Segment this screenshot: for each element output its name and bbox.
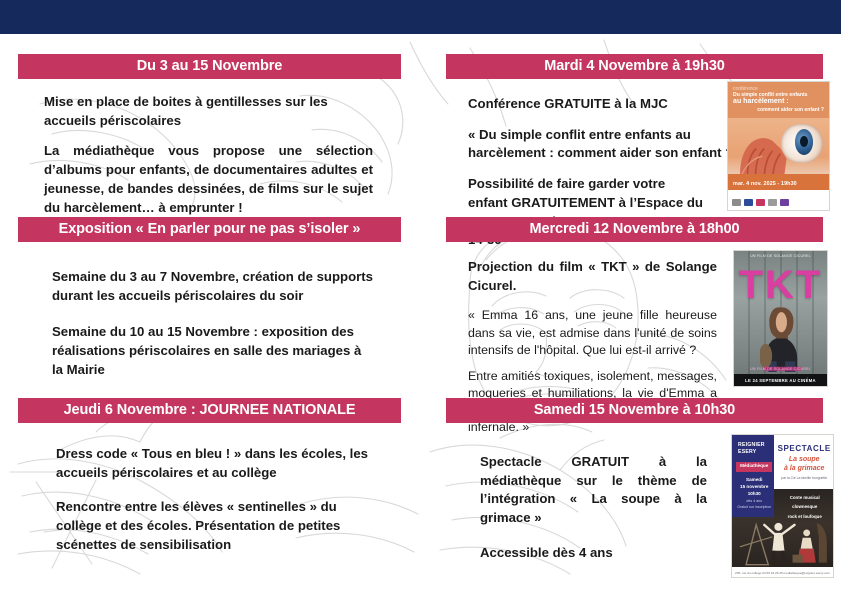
partner-logo-icon bbox=[780, 199, 789, 206]
paragraph: « Emma 16 ans, une jeune fille heureuse … bbox=[468, 307, 717, 358]
event-when: Samedi 15 novembre 10h30 bbox=[736, 476, 772, 497]
section-header: Du 3 au 15 Novembre bbox=[18, 54, 401, 79]
page-banner bbox=[0, 0, 841, 34]
poster-title: TKT bbox=[734, 265, 827, 305]
poster-film-tkt[interactable]: UN FILM DE SOLANGE CICUREL TKT UN FILM D… bbox=[733, 250, 828, 387]
paragraph: Projection du film « TKT » de Solange Ci… bbox=[468, 258, 717, 295]
poster-heading: SPECTACLE bbox=[777, 444, 831, 453]
poster-spectacle-soupe-a-la-grimace[interactable]: REIGNIER ESERY Médiathèque Samedi 15 nov… bbox=[731, 434, 834, 578]
paragraph: La médiathèque vous propose une sélectio… bbox=[44, 142, 373, 217]
paragraph: Rencontre entre les élèves « sentinelles… bbox=[56, 498, 373, 554]
performers-illustration-icon bbox=[738, 507, 829, 567]
girl-illustration-icon bbox=[760, 302, 805, 372]
poster-conference-harcelement[interactable]: conférence Du simple conflit entre enfan… bbox=[727, 81, 830, 211]
section-body: Semaine du 3 au 7 Novembre, création de … bbox=[18, 242, 401, 380]
poster-line-4: comment aider son enfant ? bbox=[733, 107, 824, 113]
footer-phone: 04 50 43 28 45 bbox=[762, 571, 783, 575]
poster-show-title: La soupe à la grimace bbox=[777, 456, 831, 474]
section-header: Exposition « En parler pour ne pas s’iso… bbox=[18, 217, 401, 242]
poster-logo-row bbox=[732, 199, 789, 206]
venue-label: Médiathèque bbox=[736, 463, 772, 468]
paragraph: Conférence GRATUITE à la MJC bbox=[468, 95, 707, 114]
paragraph: Mise en place de boites à gentillesses s… bbox=[44, 93, 373, 130]
poster-subtitle: UN FILM DE SOLANGE CICUREL bbox=[734, 367, 827, 371]
paragraph: Dress code « Tous en bleu ! » dans les é… bbox=[56, 445, 373, 482]
poster-footer-contacts: 235, rue du collège 04 50 43 28 45 media… bbox=[735, 571, 830, 575]
section-body: Mise en place de boites à gentillesses s… bbox=[18, 79, 401, 217]
poster-date-text: mar. 4 nov. 2025 - 19h30 bbox=[733, 181, 797, 187]
poster-company: par la Cie La famille bonguette bbox=[777, 476, 831, 480]
section-du-3-au-15-novembre: Du 3 au 15 Novembre Mise en place de boi… bbox=[18, 54, 401, 229]
poster-release-date: LE 24 SEPTEMBRE AU CINÉMA bbox=[734, 378, 827, 383]
partner-logo-icon bbox=[744, 199, 753, 206]
paragraph: Accessible dès 4 ans bbox=[480, 544, 707, 563]
poster-credits: UN FILM DE SOLANGE CICUREL bbox=[738, 254, 824, 259]
section-exposition-en-parler: Exposition « En parler pour ne pas s’iso… bbox=[18, 217, 401, 392]
footer-email: mediatheque@reignier-esery.com bbox=[784, 571, 830, 575]
poster-page: Programme des actions Du 3 au 15 Novembr… bbox=[0, 0, 841, 595]
paragraph: Semaine du 10 au 15 Novembre : expositio… bbox=[52, 323, 373, 379]
section-header: Mardi 4 Novembre à 19h30 bbox=[446, 54, 823, 79]
poster-line-3: au harcèlement : bbox=[733, 98, 824, 107]
section-header: Samedi 15 Novembre à 10h30 bbox=[446, 398, 823, 423]
partner-logo-icon bbox=[756, 199, 765, 206]
poster-title-block: conférence Du simple conflit entre enfan… bbox=[733, 86, 824, 114]
section-header: Mercredi 12 Novembre à 18h00 bbox=[446, 217, 823, 242]
partner-logo-icon bbox=[768, 199, 777, 206]
paragraph: Semaine du 3 au 7 Novembre, création de … bbox=[52, 268, 373, 305]
paragraph: Spectacle GRATUIT à la médiathèque sur l… bbox=[480, 453, 707, 528]
footer-address: 235, rue du collège bbox=[735, 571, 761, 575]
section-jeudi-6-novembre: Jeudi 6 Novembre : JOURNEE NATIONALE Dre… bbox=[18, 398, 401, 567]
eye-pupil bbox=[800, 136, 808, 148]
section-header: Jeudi 6 Novembre : JOURNEE NATIONALE bbox=[18, 398, 401, 423]
town-logo: REIGNIER ESERY bbox=[738, 442, 770, 455]
partner-logo-icon bbox=[732, 199, 741, 206]
section-body: Dress code « Tous en bleu ! » dans les é… bbox=[18, 423, 401, 555]
paragraph: « Du simple conflit entre enfants au har… bbox=[468, 126, 760, 163]
